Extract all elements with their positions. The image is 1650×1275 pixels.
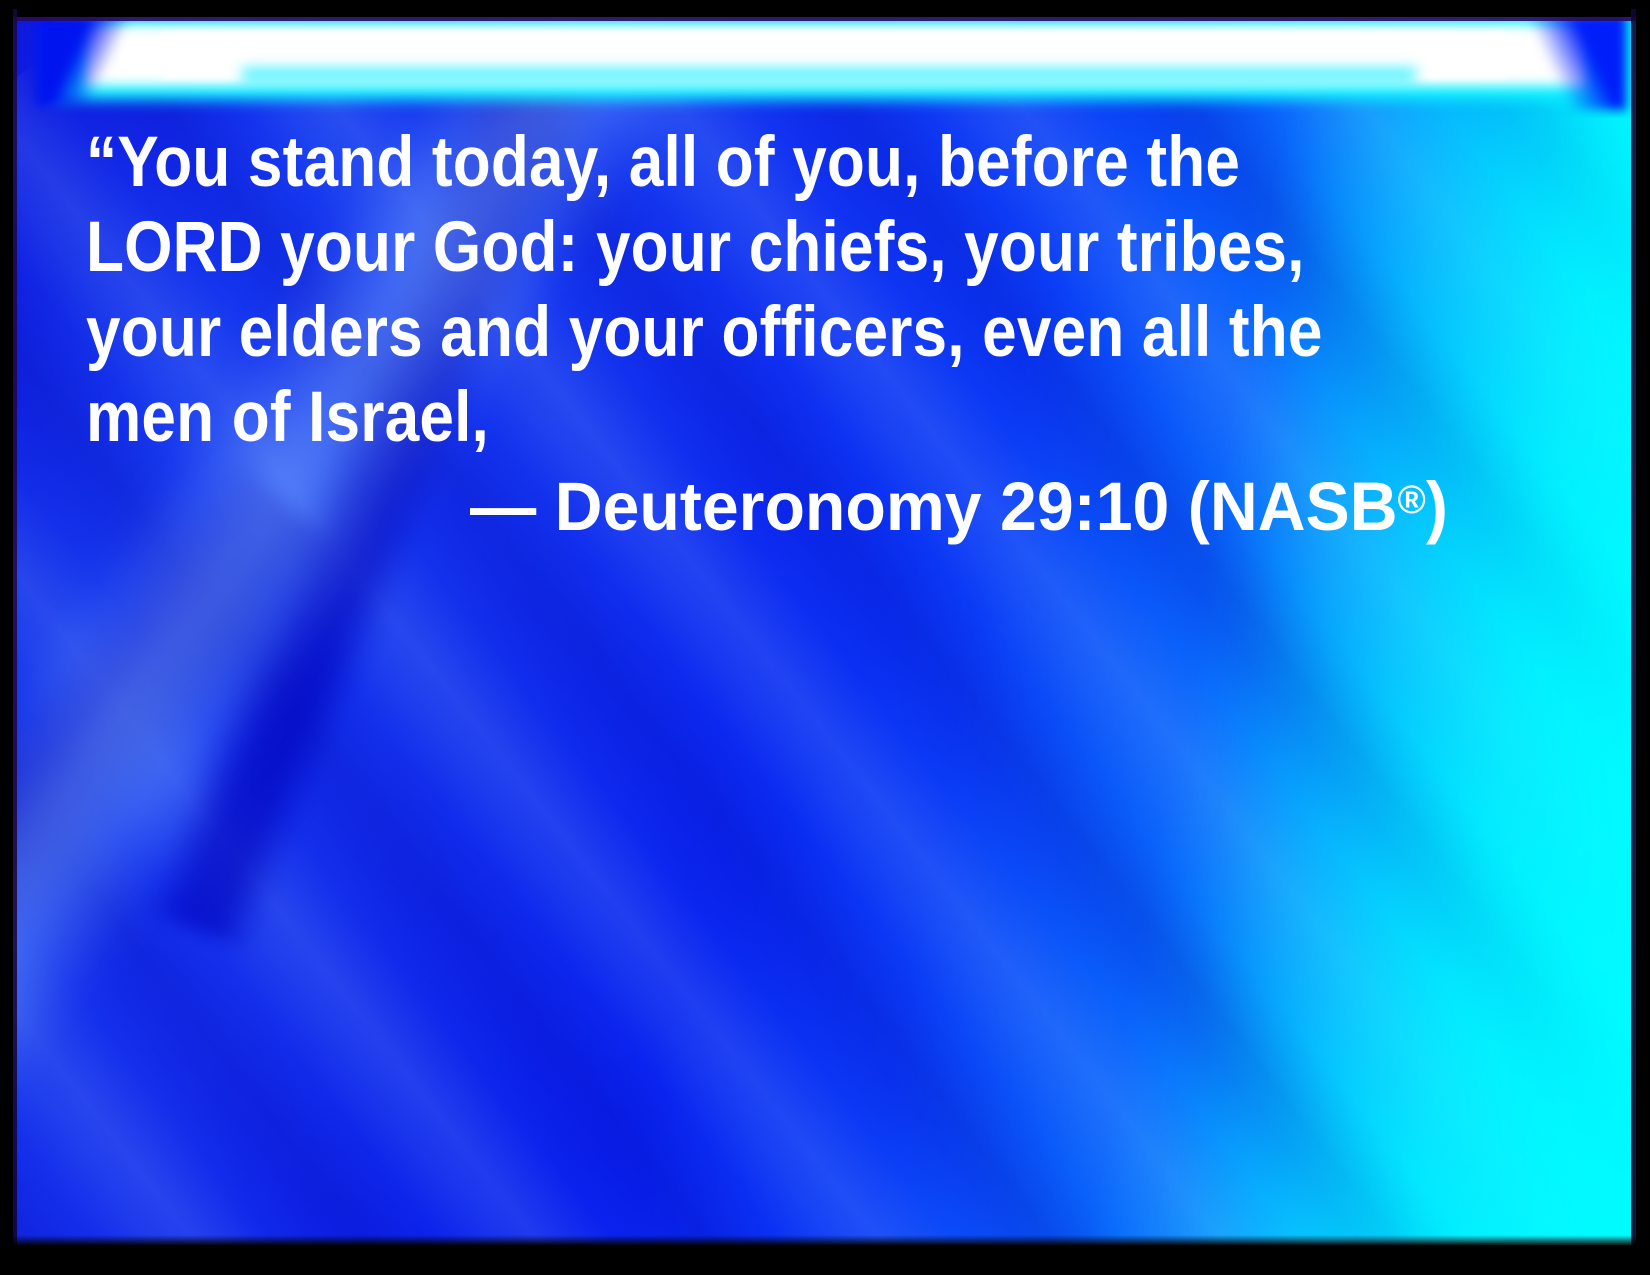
top-edge-black-line: [12, 10, 1636, 17]
top-glow-band: [12, 10, 1636, 118]
verse-line-4: men of Israel,: [86, 375, 1337, 460]
top-edge-violet-line: [12, 17, 1636, 21]
verse-slide: “You stand today, all of you, before the…: [0, 0, 1650, 1275]
verse-attribution: — Deuteronomy 29:10 (NASB®): [470, 460, 1448, 547]
verse-line-1: “You stand today, all of you, before the: [86, 120, 1337, 205]
frame-border-left: [0, 0, 13, 1275]
frame-border-bottom: [0, 1245, 1650, 1275]
frame-bottom-shadow: [13, 1235, 1636, 1245]
attribution-prefix: — Deuteronomy 29:10 (NASB: [470, 468, 1398, 545]
frame-edge-violet-right: [1631, 9, 1636, 1245]
frame-border-top: [0, 0, 1650, 9]
top-glow-taper-right: [1496, 14, 1626, 110]
frame-edge-violet-left: [13, 9, 17, 1245]
top-glow-taper-left: [36, 14, 156, 106]
frame-border-right: [1636, 0, 1650, 1275]
verse-line-2: LORD your God: your chiefs, your tribes,: [86, 205, 1337, 290]
top-glow-inner-cyan: [242, 68, 1416, 82]
verse-text-block: “You stand today, all of you, before the…: [86, 120, 1516, 460]
attribution-suffix: ): [1426, 468, 1448, 545]
verse-line-3: your elders and your officers, even all …: [86, 290, 1337, 375]
registered-trademark-icon: ®: [1398, 478, 1426, 522]
